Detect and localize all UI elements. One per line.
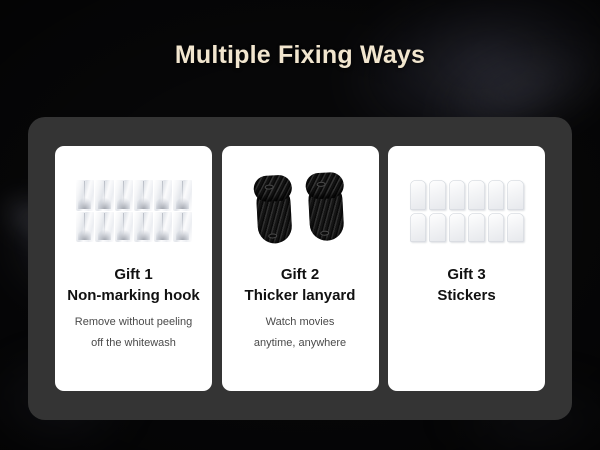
hook-item (95, 180, 114, 211)
adhesive-stickers-icon (402, 170, 532, 252)
sticker-item (488, 180, 505, 210)
sticker-item (449, 213, 466, 243)
hook-item (76, 180, 95, 211)
hook-item (173, 180, 192, 211)
gift-number: Gift 3 (394, 264, 539, 285)
hook-grid (76, 180, 192, 242)
sticker-item (488, 213, 505, 243)
gift-description-line2: anytime, anywhere (228, 333, 373, 354)
hook-item (173, 212, 192, 243)
hook-item (134, 212, 153, 243)
hook-item (154, 180, 173, 211)
sticker-item (468, 213, 485, 243)
rope-item (251, 174, 297, 250)
gift-number: Gift 1 (61, 264, 206, 285)
hook-item (115, 212, 134, 243)
gift-name: Thicker lanyard (228, 285, 373, 306)
gift-description-line1: Watch movies (228, 312, 373, 333)
gift-description-line1: Remove without peeling (61, 312, 206, 333)
coiled-ropes-icon (235, 170, 365, 252)
rope-item (303, 172, 349, 248)
hook-item (115, 180, 134, 211)
adhesive-hooks-icon (69, 170, 199, 252)
gift-name: Stickers (394, 285, 539, 306)
hook-item (76, 212, 95, 243)
hook-item (134, 180, 153, 211)
gift-card-2-text: Gift 2 Thicker lanyard Watch movies anyt… (222, 264, 379, 354)
sticker-item (507, 180, 524, 210)
gift-card-1-text: Gift 1 Non-marking hook Remove without p… (55, 264, 212, 354)
gift-card-1[interactable]: Gift 1 Non-marking hook Remove without p… (55, 146, 212, 391)
sticker-item (449, 180, 466, 210)
gift-card-3-text: Gift 3 Stickers (388, 264, 545, 312)
hook-item (95, 212, 114, 243)
sticker-item (468, 180, 485, 210)
rope-group (251, 172, 349, 251)
promo-banner: Multiple Fixing Ways (0, 0, 600, 450)
gift-card-2[interactable]: Gift 2 Thicker lanyard Watch movies anyt… (222, 146, 379, 391)
gift-description-line2: off the whitewash (61, 333, 206, 354)
hook-item (154, 212, 173, 243)
gift-card-3[interactable]: Gift 3 Stickers (388, 146, 545, 391)
sticker-item (410, 213, 427, 243)
sticker-grid (410, 180, 524, 242)
page-title: Multiple Fixing Ways (0, 41, 600, 70)
gift-name: Non-marking hook (61, 285, 206, 306)
sticker-item (429, 213, 446, 243)
sticker-item (507, 213, 524, 243)
sticker-item (410, 180, 427, 210)
sticker-item (429, 180, 446, 210)
cards-panel: Gift 1 Non-marking hook Remove without p… (28, 117, 572, 420)
gift-number: Gift 2 (228, 264, 373, 285)
